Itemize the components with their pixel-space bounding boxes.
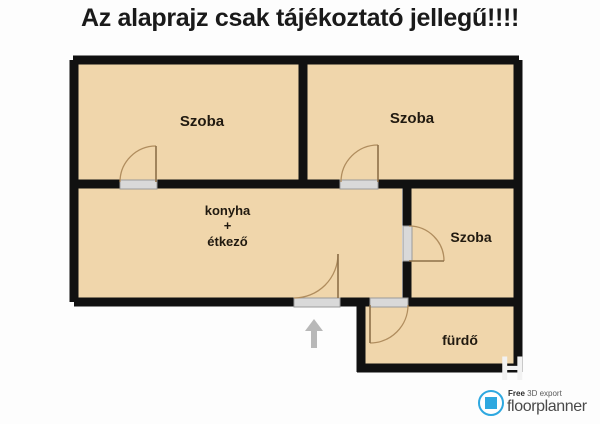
room-label-konyha-etkezo: konyha + étkező [160, 203, 295, 249]
room-label-szoba-1: Szoba [132, 113, 272, 131]
entry-arrow-icon [305, 319, 323, 348]
room-label-szoba-3: Szoba [425, 229, 517, 246]
logo-tagline: Free 3D export [508, 389, 562, 398]
floorplanner-badge-icon [478, 390, 504, 416]
logo-tagline-free: Free [508, 389, 525, 398]
screenshot-canvas: Az alaprajz csak tájékoztató jellegű!!!! [0, 0, 600, 424]
floorplanner-logo: Free 3D export floorplanner [478, 386, 598, 420]
room-label-konyha-plus: + [160, 218, 295, 233]
logo-tagline-rest: 3D export [525, 389, 562, 398]
floorplanner-badge-glyph [485, 397, 497, 409]
room-label-konyha-line3: étkező [207, 234, 247, 249]
door-threshold-szoba-3 [403, 226, 412, 261]
door-threshold-furdo [370, 298, 408, 307]
room-label-szoba-2: Szoba [352, 110, 472, 128]
door-threshold-entrance [294, 298, 340, 307]
door-threshold-szoba-2 [340, 180, 378, 189]
floorplan-drawing [0, 0, 600, 424]
door-threshold-szoba-1 [120, 180, 157, 189]
room-label-furdo: fürdő [412, 332, 508, 349]
room-label-konyha-line1: konyha [205, 203, 251, 218]
logo-wordmark: floorplanner [507, 398, 587, 416]
